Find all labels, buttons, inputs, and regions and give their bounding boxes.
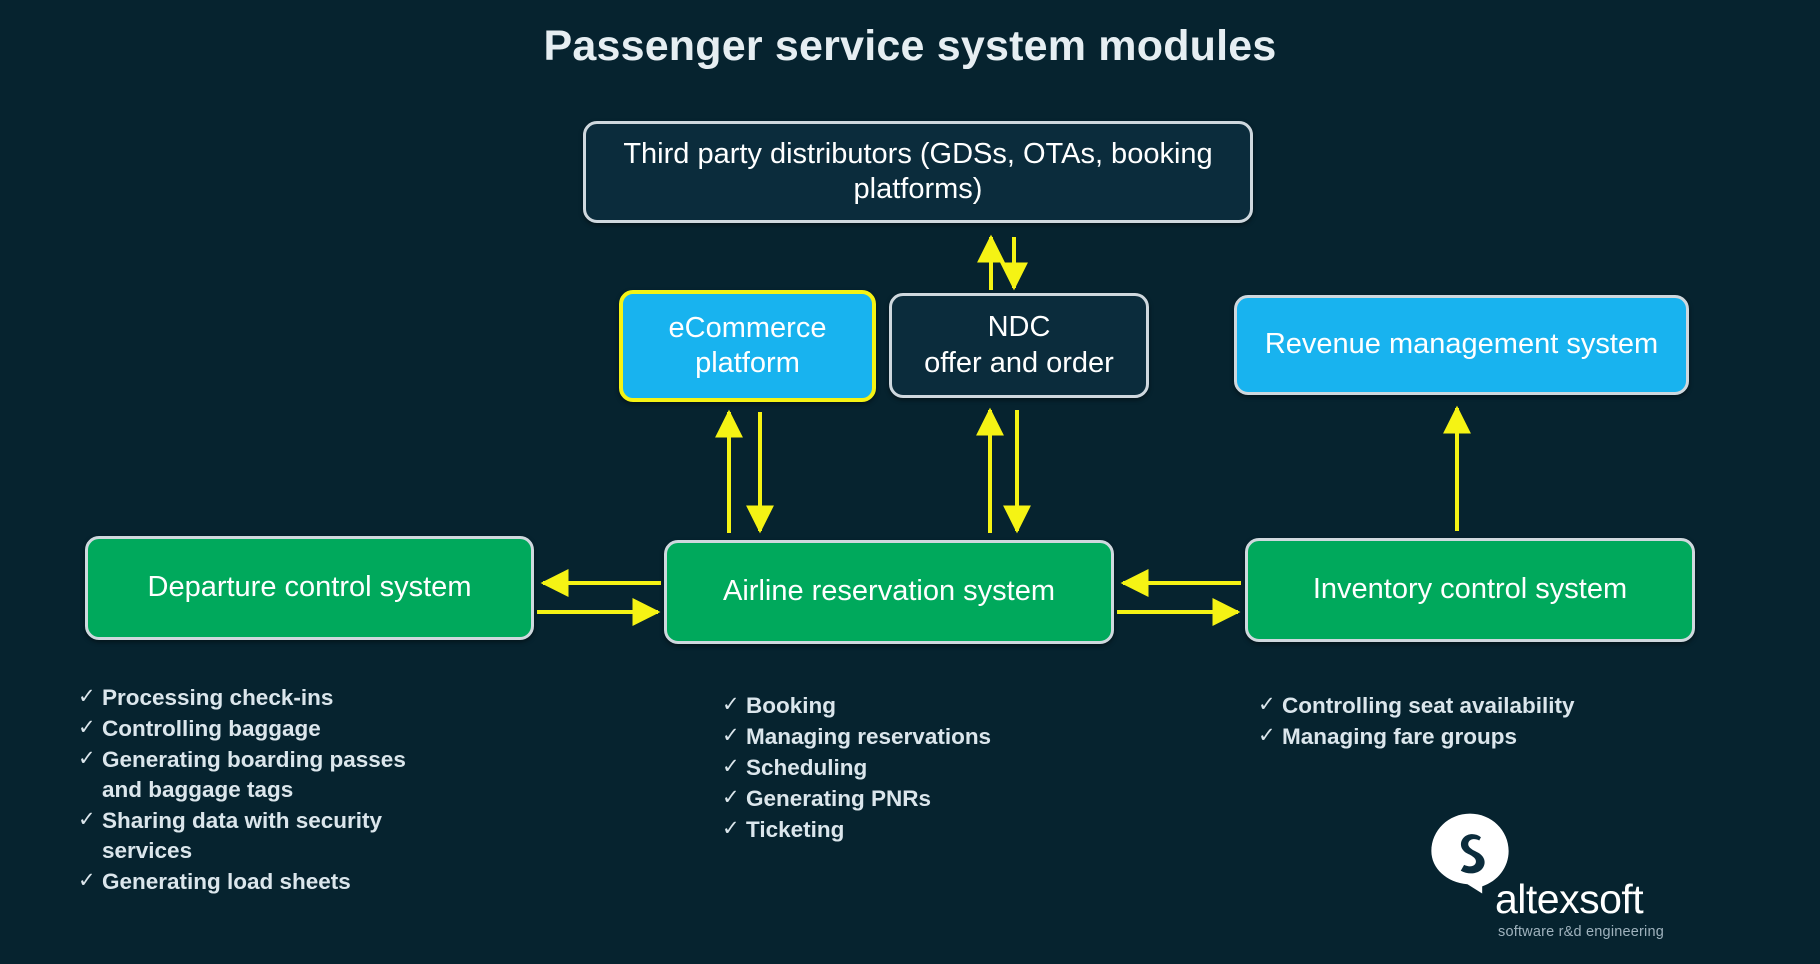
node-inventory-control-system[interactable]: Inventory control system xyxy=(1245,538,1695,642)
node-ndc-offer-and-order[interactable]: NDC offer and order xyxy=(889,293,1149,398)
logo-tagline: software r&d engineering xyxy=(1498,925,1664,940)
list-item: ✓ Generating PNRs xyxy=(722,784,1022,814)
check-icon: ✓ xyxy=(78,714,102,742)
list-item-label: Ticketing xyxy=(746,815,1022,845)
list-item-label: Managing fare groups xyxy=(1282,722,1588,752)
list-item: ✓ Processing check-ins xyxy=(78,683,408,713)
connector-ndc-thirdparty xyxy=(991,237,1014,290)
check-icon: ✓ xyxy=(78,867,102,895)
list-item: ✓ Controlling baggage xyxy=(78,714,408,744)
check-icon: ✓ xyxy=(78,683,102,711)
list-item-label: Generating PNRs xyxy=(746,784,1022,814)
check-icon: ✓ xyxy=(1258,722,1282,750)
list-item-label: Generating boarding passes and baggage t… xyxy=(102,745,408,805)
list-item: ✓ Ticketing xyxy=(722,815,1022,845)
list-item-label: Booking xyxy=(746,691,1022,721)
check-icon: ✓ xyxy=(78,806,102,834)
list-item-label: Processing check-ins xyxy=(102,683,408,713)
logo-wordmark: altexsoft xyxy=(1495,879,1643,920)
node-third-party-distributors[interactable]: Third party distributors (GDSs, OTAs, bo… xyxy=(583,121,1253,223)
check-icon: ✓ xyxy=(1258,691,1282,719)
node-airline-reservation-system[interactable]: Airline reservation system xyxy=(664,540,1114,644)
list-item: ✓ Managing fare groups xyxy=(1258,722,1588,752)
connector-ars-dcs xyxy=(537,583,661,612)
list-item: ✓ Generating load sheets xyxy=(78,867,408,897)
list-item: ✓ Controlling seat availability xyxy=(1258,691,1588,721)
list-item-label: Scheduling xyxy=(746,753,1022,783)
list-item: ✓ Managing reservations xyxy=(722,722,1022,752)
list-item: ✓ Generating boarding passes and baggage… xyxy=(78,745,408,805)
connector-ars-ndc xyxy=(990,410,1017,533)
connector-ars-ecommerce xyxy=(729,412,760,533)
altexsoft-logo: altexsoft software r&d engineering xyxy=(1428,812,1698,942)
list-item: ✓ Sharing data with security services xyxy=(78,806,408,866)
page-title: Passenger service system modules xyxy=(0,22,1820,71)
check-icon: ✓ xyxy=(722,691,746,719)
list-item-label: Sharing data with security services xyxy=(102,806,408,866)
check-icon: ✓ xyxy=(722,815,746,843)
bullet-list-departure-control: ✓ Processing check-ins ✓ Controlling bag… xyxy=(78,683,408,897)
node-departure-control-system[interactable]: Departure control system xyxy=(85,536,534,640)
list-item-label: Generating load sheets xyxy=(102,867,408,897)
check-icon: ✓ xyxy=(78,745,102,773)
bullet-list-airline-reservation: ✓ Booking ✓ Managing reservations ✓ Sche… xyxy=(722,691,1022,846)
list-item-label: Controlling baggage xyxy=(102,714,408,744)
node-revenue-management-system[interactable]: Revenue management system xyxy=(1234,295,1689,395)
node-ndc-line1: NDC xyxy=(924,310,1114,345)
connector-ics-ars xyxy=(1117,583,1241,612)
bullet-list-inventory-control: ✓ Controlling seat availability ✓ Managi… xyxy=(1258,691,1588,753)
list-item: ✓ Booking xyxy=(722,691,1022,721)
check-icon: ✓ xyxy=(722,784,746,812)
node-ecommerce-platform[interactable]: eCommerce platform xyxy=(619,290,876,402)
node-ndc-line2: offer and order xyxy=(924,346,1114,381)
list-item: ✓ Scheduling xyxy=(722,753,1022,783)
check-icon: ✓ xyxy=(722,753,746,781)
list-item-label: Controlling seat availability xyxy=(1282,691,1588,721)
list-item-label: Managing reservations xyxy=(746,722,1022,752)
diagram-canvas: Passenger service system modules xyxy=(0,0,1820,964)
check-icon: ✓ xyxy=(722,722,746,750)
